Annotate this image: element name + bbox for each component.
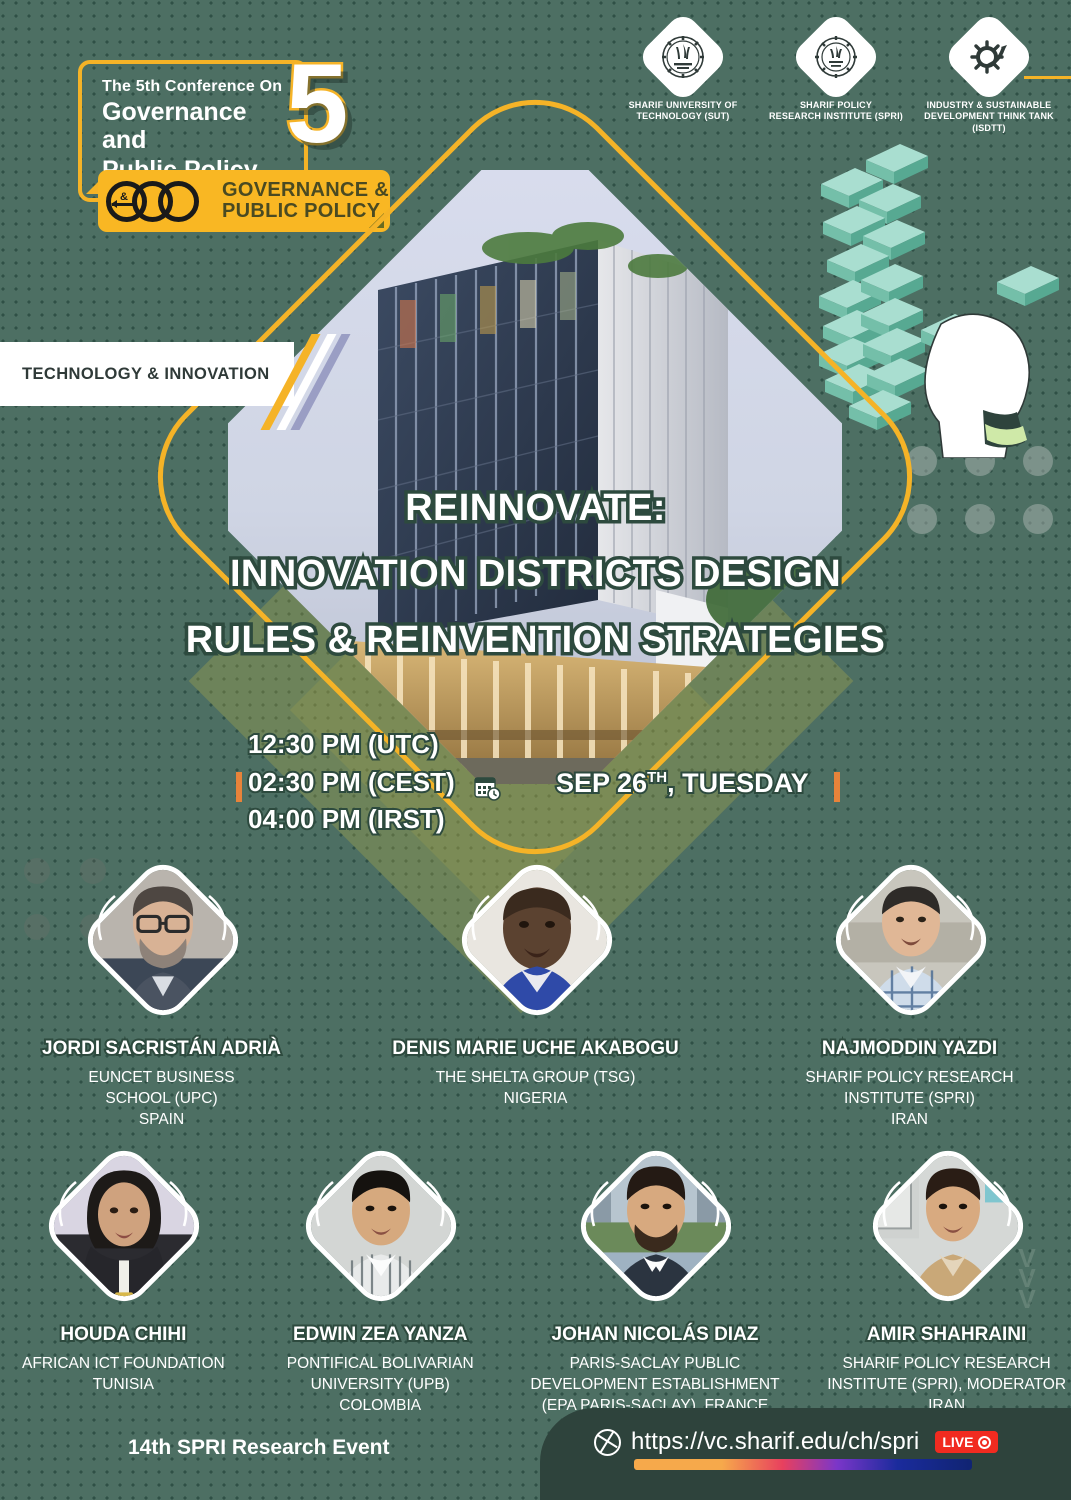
org-caption-line1: INDUSTRY & SUSTAINABLE bbox=[918, 100, 1060, 111]
gradient-accent-bar bbox=[634, 1459, 972, 1470]
time-utc: 12:30 PM (UTC) bbox=[248, 726, 548, 764]
title-line-3: RULES & REINVENTION STRATEGIES bbox=[0, 618, 1071, 662]
conference-title-a: Governance and bbox=[102, 98, 286, 154]
speaker-card: NAJMODDIN YAZDI SHARIF POLICY RESEARCH I… bbox=[785, 862, 1035, 1131]
speaker-affiliation: SHARIF POLICY RESEARCH INSTITUTE (SPRI) … bbox=[785, 1068, 1035, 1131]
speaker-card: JOHAN NICOLÁS DIAZ PARIS-SACLAY PUBLIC D… bbox=[514, 1148, 797, 1417]
speaker-card: EDWIN ZEA YANZA PONTIFICAL BOLIVARIAN UN… bbox=[273, 1148, 488, 1417]
category-tag: TECHNOLOGY & INNOVATION bbox=[0, 342, 294, 406]
sharif-university-emblem-icon bbox=[636, 10, 729, 103]
accent-bar-left bbox=[236, 772, 242, 802]
avatar-frame-arcs bbox=[50, 1152, 196, 1314]
accent-dash-decoration bbox=[1024, 76, 1071, 79]
avatar-frame-arcs bbox=[837, 866, 983, 1028]
speaker-card: HOUDA CHIHI AFRICAN ICT FOUNDATION TUNIS… bbox=[0, 1148, 247, 1417]
broadcast-dot-icon bbox=[978, 1436, 991, 1449]
conference-subtitle: The 5th Conference On bbox=[102, 78, 286, 96]
speaker-affiliation: PONTIFICAL BOLIVARIAN UNIVERSITY (UPB) C… bbox=[273, 1354, 488, 1417]
speaker-card: AMIR SHAHRAINI SHARIF POLICY RESEARCH IN… bbox=[822, 1148, 1071, 1417]
gpp-ampersand: & bbox=[120, 191, 128, 203]
org-logo-spri: SHARIF POLICY RESEARCH INSTITUTE (SPRI) bbox=[765, 24, 907, 134]
avatar-frame-arcs bbox=[874, 1152, 1020, 1314]
event-date: SEP 26TH, TUESDAY bbox=[556, 768, 809, 799]
schedule-times: 12:30 PM (UTC) 02:30 PM (CEST) 04:00 PM … bbox=[248, 726, 548, 839]
speaker-name: HOUDA CHIHI bbox=[0, 1324, 247, 1346]
speaker-name: AMIR SHAHRAINI bbox=[822, 1324, 1071, 1346]
org-logo-sut: SHARIF UNIVERSITY OF TECHNOLOGY (SUT) bbox=[612, 24, 754, 134]
calendar-clock-icon bbox=[474, 774, 501, 808]
org-caption-line2: TECHNOLOGY (SUT) bbox=[612, 111, 754, 122]
org-caption-line2: RESEARCH INSTITUTE (SPRI) bbox=[765, 111, 907, 122]
speaker-affiliation: AFRICAN ICT FOUNDATION TUNISIA bbox=[0, 1354, 247, 1396]
organization-logos: SHARIF UNIVERSITY OF TECHNOLOGY (SUT) bbox=[612, 24, 1060, 134]
date-rest: , TUESDAY bbox=[667, 768, 809, 798]
gpp-logo-icon: & bbox=[106, 179, 218, 223]
live-badge: LIVE bbox=[935, 1431, 998, 1453]
stream-url[interactable]: https://vc.sharif.edu/ch/spri bbox=[631, 1428, 919, 1456]
org-caption-line1: SHARIF POLICY bbox=[765, 100, 907, 111]
stream-link[interactable]: https://vc.sharif.edu/ch/spri LIVE bbox=[594, 1428, 998, 1456]
globe-ball-icon bbox=[594, 1429, 621, 1456]
date-main: SEP 26 bbox=[556, 768, 647, 798]
speaker-name: JOHAN NICOLÁS DIAZ bbox=[514, 1324, 797, 1346]
date-ordinal: TH bbox=[647, 769, 667, 786]
avatar-frame-arcs bbox=[463, 866, 609, 1028]
event-series-label: 14th SPRI Research Event bbox=[128, 1436, 389, 1460]
category-tag-label: TECHNOLOGY & INNOVATION bbox=[22, 365, 270, 384]
speaker-name: EDWIN ZEA YANZA bbox=[273, 1324, 488, 1346]
accent-bar-right bbox=[834, 772, 840, 802]
event-title: REINNOVATE: INNOVATION DISTRICTS DESIGN … bbox=[0, 486, 1071, 662]
avatar-frame-arcs bbox=[307, 1152, 453, 1314]
org-caption-line1: SHARIF UNIVERSITY OF bbox=[612, 100, 754, 111]
isdtt-gear-emblem-icon bbox=[942, 10, 1035, 103]
speakers-row-1: JORDI SACRISTÁN ADRIÀ EUNCET BUSINESS SC… bbox=[0, 862, 1071, 1131]
avatar-frame-arcs bbox=[89, 866, 235, 1028]
org-logo-isdtt: INDUSTRY & SUSTAINABLE DEVELOPMENT THINK… bbox=[918, 24, 1060, 134]
speaker-name: DENIS MARIE UCHE AKABOGU bbox=[391, 1038, 681, 1060]
hero-image-diamond bbox=[228, 170, 842, 784]
speaker-name: NAJMODDIN YAZDI bbox=[785, 1038, 1035, 1060]
title-line-1: REINNOVATE: bbox=[0, 486, 1071, 530]
live-label: LIVE bbox=[942, 1434, 973, 1450]
conference-poster: VVV The 5th Conference On Governance and bbox=[0, 0, 1071, 1500]
avatar-frame-arcs bbox=[582, 1152, 728, 1314]
time-irst: 04:00 PM (IRST) bbox=[248, 801, 548, 839]
speaker-card: JORDI SACRISTÁN ADRIÀ EUNCET BUSINESS SC… bbox=[37, 862, 287, 1131]
speaker-affiliation: THE SHELTA GROUP (TSG) NIGERIA bbox=[391, 1068, 681, 1110]
speakers-row-2: HOUDA CHIHI AFRICAN ICT FOUNDATION TUNIS… bbox=[0, 1148, 1071, 1417]
org-caption-line2: DEVELOPMENT THINK TANK (ISDTT) bbox=[918, 111, 1060, 134]
speaker-card: DENIS MARIE UCHE AKABOGU THE SHELTA GROU… bbox=[391, 862, 681, 1131]
speaker-affiliation: EUNCET BUSINESS SCHOOL (UPC) SPAIN bbox=[37, 1068, 287, 1131]
spri-emblem-icon bbox=[789, 10, 882, 103]
time-cest: 02:30 PM (CEST) bbox=[248, 764, 548, 802]
title-line-2: INNOVATION DISTRICTS DESIGN bbox=[0, 552, 1071, 596]
edition-number: 5 bbox=[286, 48, 348, 160]
speaker-name: JORDI SACRISTÁN ADRIÀ bbox=[37, 1038, 287, 1060]
